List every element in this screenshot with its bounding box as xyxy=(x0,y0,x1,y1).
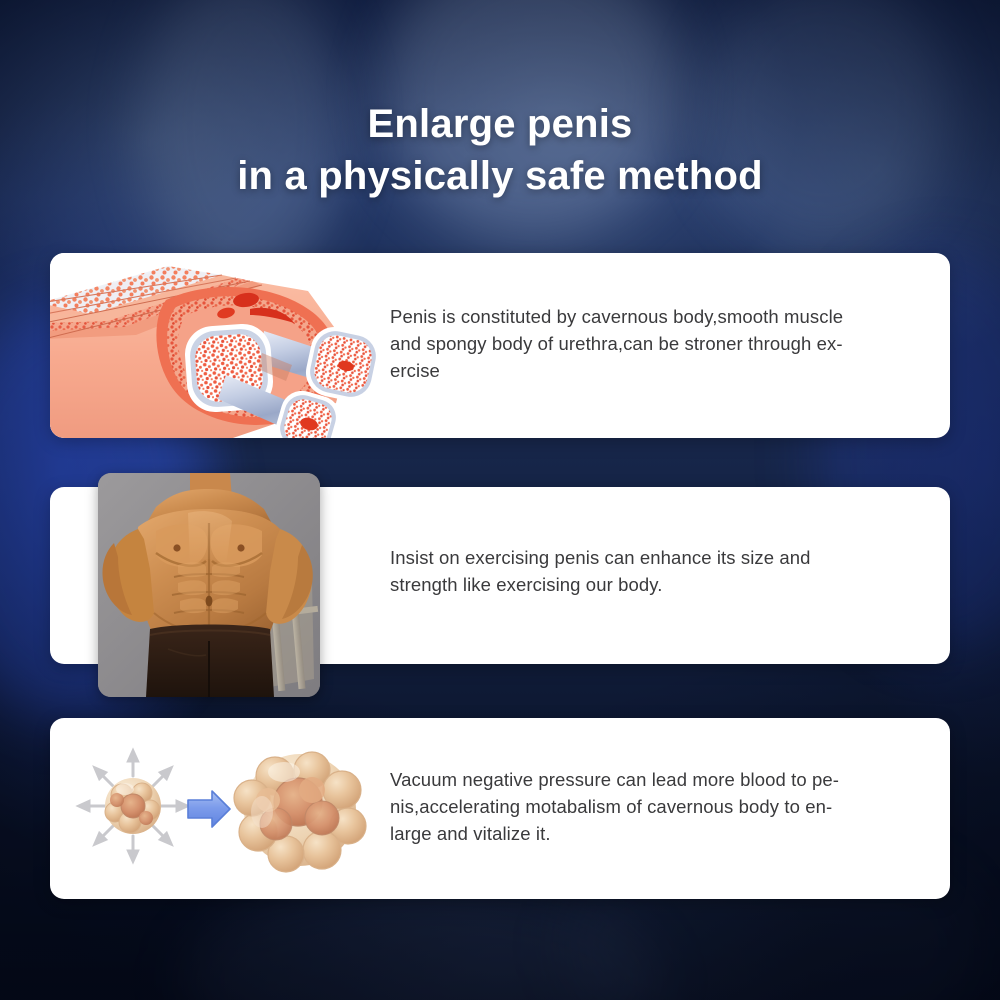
card-description: Insist on exercising penis can enhance i… xyxy=(390,544,912,598)
penis-cross-section-anatomy-icon xyxy=(50,253,380,438)
page-title-line-2: in a physically safe method xyxy=(0,150,1000,202)
page-title: Enlarge penis in a physically safe metho… xyxy=(0,98,1000,202)
feature-card-exercise: Insist on exercising penis can enhance i… xyxy=(50,487,950,664)
muscular-male-torso-photo xyxy=(98,473,320,697)
page-title-line-1: Enlarge penis xyxy=(0,98,1000,150)
feature-card-vacuum: Vacuum negative pressure can lead more b… xyxy=(50,718,950,899)
card-description: Vacuum negative pressure can lead more b… xyxy=(390,766,912,847)
card-description: Penis is constituted by cavernous body,s… xyxy=(390,303,912,384)
cell-cluster-enlargement-icon xyxy=(70,740,370,880)
infographic-page: Enlarge penis in a physically safe metho… xyxy=(0,0,1000,1000)
feature-card-anatomy: Penis is constituted by cavernous body,s… xyxy=(50,253,950,438)
